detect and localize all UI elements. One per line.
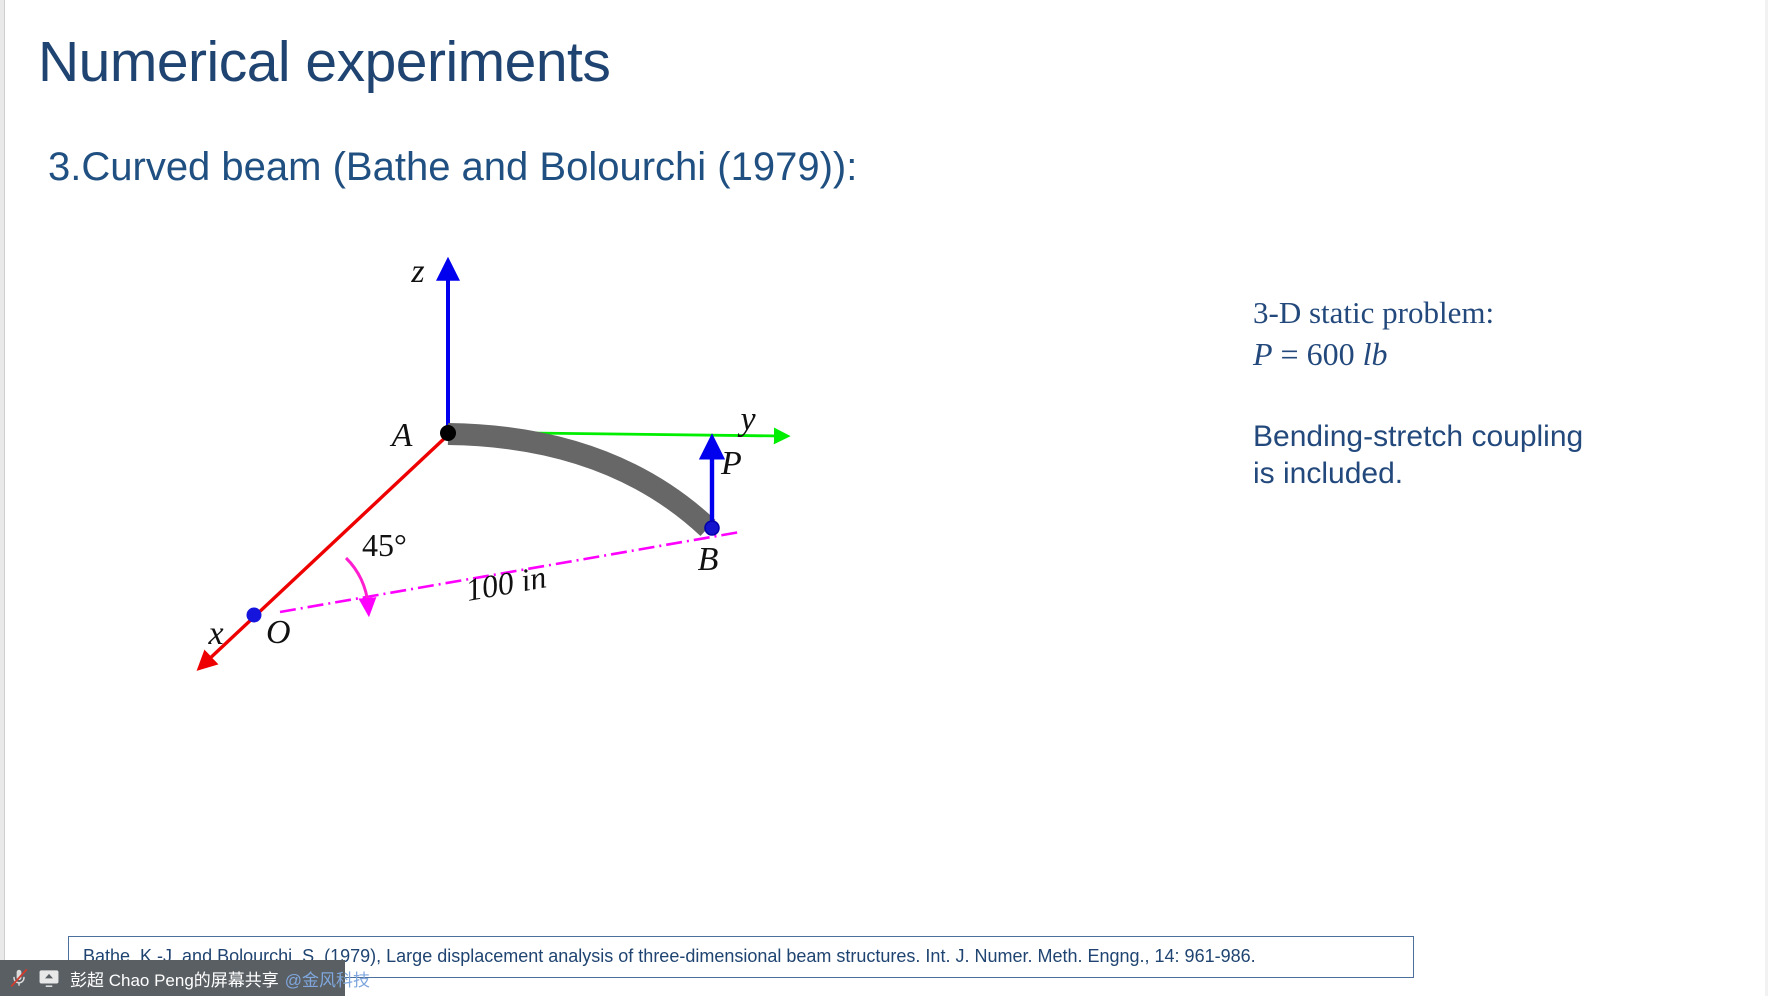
note-static-problem: 3-D static problem: bbox=[1253, 295, 1683, 332]
load-label-P: P bbox=[720, 445, 742, 482]
share-label: 彭超 Chao Peng的屏幕共享 bbox=[70, 966, 279, 991]
node-O bbox=[247, 608, 262, 623]
share-watermark: @金风科技 bbox=[285, 966, 370, 991]
window-left-edge bbox=[0, 0, 5, 996]
node-A bbox=[440, 425, 456, 441]
note-coupling: Bending-stretch coupling is included. bbox=[1253, 418, 1683, 493]
page-title: Numerical experiments bbox=[38, 34, 610, 91]
slide-subtitle: 3.Curved beam (Bathe and Bolourchi (1979… bbox=[48, 147, 857, 187]
angle-label: 45° bbox=[362, 527, 407, 563]
note-coupling-line2: is included. bbox=[1253, 455, 1683, 493]
axis-label-y: y bbox=[737, 401, 756, 438]
point-label-O: O bbox=[266, 614, 291, 651]
microphone-muted-icon[interactable] bbox=[6, 965, 32, 991]
axis-label-x: x bbox=[207, 615, 223, 652]
curved-beam-diagram: z y x O A B P 45° 100 in bbox=[180, 250, 980, 730]
screen-share-icon[interactable] bbox=[36, 965, 62, 991]
curved-beam bbox=[448, 434, 708, 528]
slide-canvas: Numerical experiments 3.Curved beam (Bat… bbox=[0, 0, 1768, 996]
notes-panel: 3-D static problem: P = 600 lb Bending-s… bbox=[1253, 295, 1683, 493]
load-symbol: P bbox=[1253, 336, 1273, 372]
node-B bbox=[705, 521, 719, 535]
screen-share-bar: 彭超 Chao Peng的屏幕共享 @金风科技 bbox=[0, 960, 345, 996]
point-label-B: B bbox=[698, 541, 719, 578]
radius-label: 100 in bbox=[463, 558, 549, 607]
x-axis bbox=[206, 435, 448, 662]
axis-label-z: z bbox=[410, 253, 424, 290]
note-load-equation: P = 600 lb bbox=[1253, 334, 1683, 374]
note-coupling-line1: Bending-stretch coupling bbox=[1253, 418, 1683, 456]
load-value: 600 bbox=[1307, 336, 1355, 372]
equals-sign: = bbox=[1273, 336, 1307, 372]
point-label-A: A bbox=[390, 417, 413, 454]
load-unit: lb bbox=[1363, 336, 1388, 372]
